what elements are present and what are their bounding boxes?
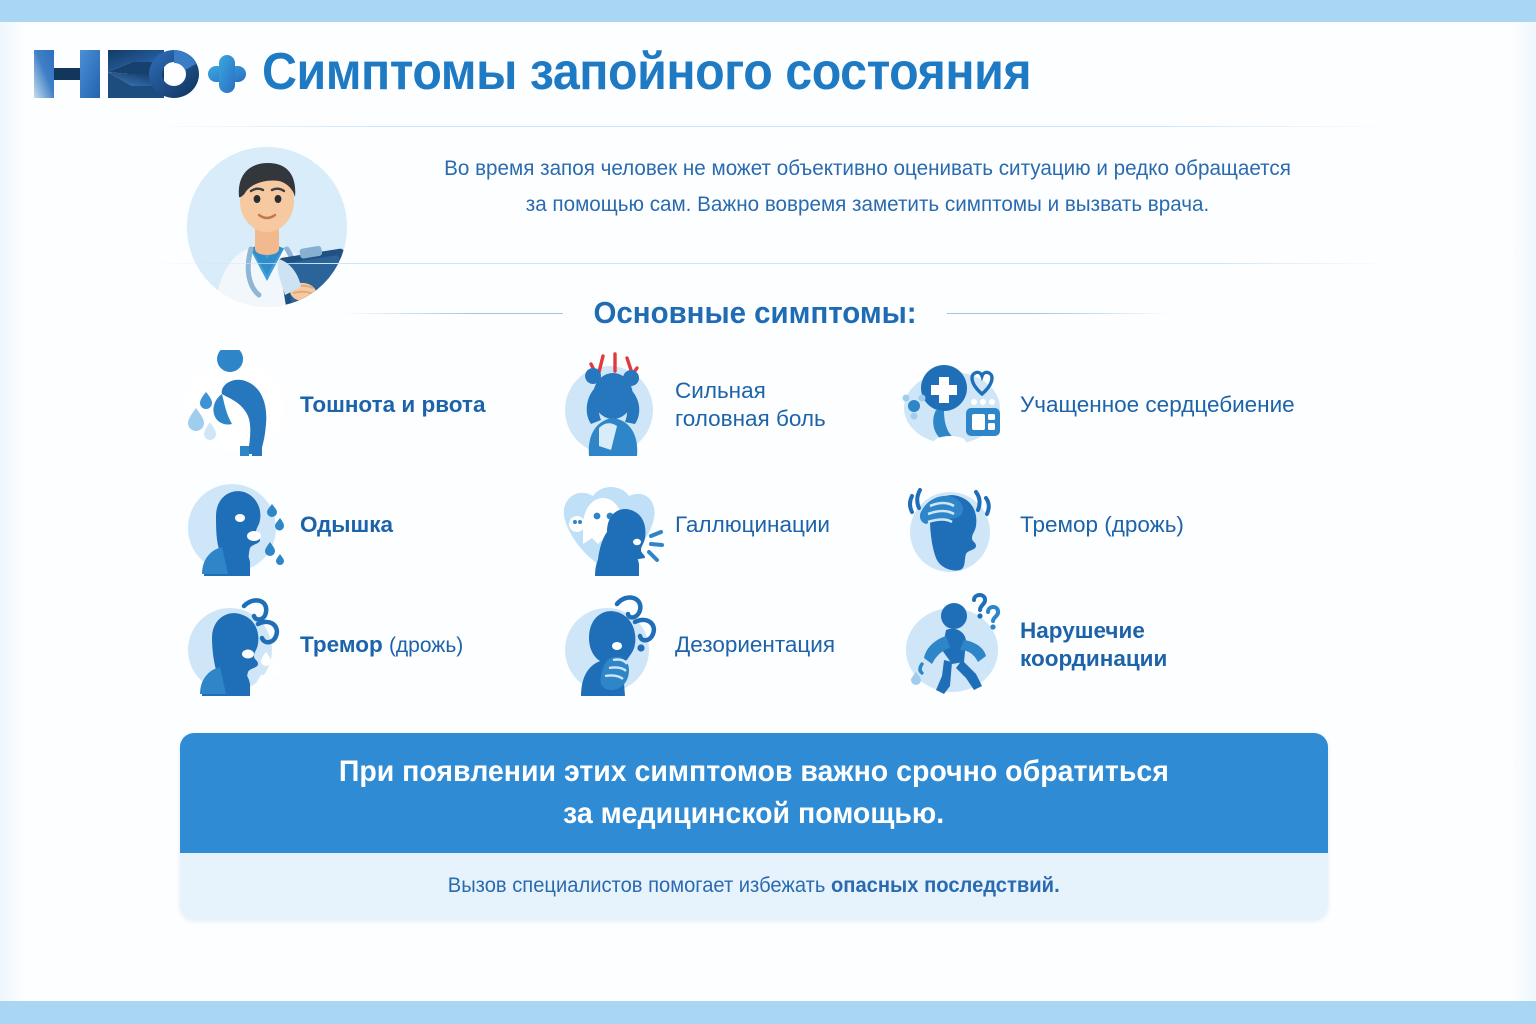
vomiting-person-icon (180, 350, 292, 460)
coordination-loss-walking-icon (900, 590, 1012, 700)
infographic-page: Симптомы запойного состояния (0, 0, 1536, 1024)
intro-paragraph: Во время запоя человек не может объектив… (395, 150, 1341, 222)
symptom-label: Нарушечие координации (1020, 617, 1167, 673)
symptom-label: Тремор (дрожь) (1020, 511, 1184, 539)
symptom-item-disorientation: Дезориентация (555, 585, 945, 705)
symptom-item-tachycardia: Учащенное сердцебиение (900, 345, 1360, 465)
symptom-row: Одышка (180, 465, 1360, 585)
right-edge-tint (1510, 22, 1536, 1001)
tremor-shaking-person-icon (180, 590, 292, 700)
symptom-item-hallucinations: Галлюцинации (555, 465, 945, 585)
symptom-label: Сильная головная боль (675, 377, 826, 433)
heading-line-left (340, 313, 563, 314)
bottom-accent-bar (0, 1001, 1536, 1024)
headache-person-icon (555, 350, 667, 460)
heading-line-right (947, 313, 1170, 314)
top-accent-bar (0, 0, 1536, 22)
symptom-item-coordination: Нарушечие координации (900, 585, 1360, 705)
brand-logo-icon (32, 42, 247, 106)
symptom-item-headache: Сильная головная боль (555, 345, 945, 465)
callout-line-2: за медицинской помощью. (563, 793, 944, 835)
header: Симптомы запойного состояния (0, 22, 1536, 122)
symptom-grid: Тошнота и рвота (180, 345, 1360, 705)
intro-divider (150, 263, 1390, 264)
intro-line-1: Во время запоя человек не может объектив… (395, 150, 1341, 186)
symptom-label: Галлюцинации (675, 511, 830, 539)
callout-footer: Вызов специалистов помогает избежать опа… (180, 853, 1328, 919)
symptom-label-main: Тремор (300, 632, 389, 657)
symptom-label: Одышка (300, 511, 393, 539)
symptom-label-suffix: (дрожь) (389, 634, 463, 657)
symptom-label: Учащенное сердцебиение (1020, 391, 1295, 419)
symptom-label-line-2: головная боль (675, 405, 826, 433)
left-edge-tint (0, 22, 26, 1001)
header-divider (150, 126, 1390, 127)
doctor-with-clipboard-icon (175, 135, 365, 320)
section-title: Основные симптомы: (593, 295, 916, 331)
section-heading: Основные симптомы: (340, 291, 1170, 335)
hallucination-ghost-icon (555, 470, 667, 580)
symptom-label-line-1: Нарушечие (1020, 617, 1167, 645)
symptom-row: Тошнота и рвота (180, 345, 1360, 465)
disorientation-thinking-icon (555, 590, 667, 700)
symptom-label: Тремор (дрожь) (300, 631, 463, 660)
symptom-item-dyspnea: Одышка (180, 465, 550, 585)
page-title: Симптомы запойного состояния (262, 42, 1031, 102)
symptom-label: Тошнота и рвота (300, 391, 485, 419)
symptom-item-nausea: Тошнота и рвота (180, 345, 550, 465)
symptom-label: Дезориентация (675, 631, 835, 659)
shortness-of-breath-icon (180, 470, 292, 580)
callout-box: При появлении этих симптомов важно срочн… (180, 733, 1328, 919)
symptom-label-line-1: Сильная (675, 377, 826, 405)
tremor-hands-head-icon (900, 470, 1012, 580)
symptom-item-tremor-head: Тремор (дрожь) (900, 465, 1360, 585)
callout-footer-text: Вызов специалистов помогает избежать опа… (448, 874, 1060, 898)
callout-footer-plain: Вызов специалистов помогает избежать (448, 874, 831, 897)
intro-line-2: за помощью сам. Важно вовремя заметить с… (395, 186, 1341, 222)
symptom-item-tremor: Тремор (дрожь) (180, 585, 550, 705)
heart-rate-monitor-icon (900, 350, 1012, 460)
symptom-label-line-2: координации (1020, 645, 1167, 673)
callout-primary: При появлении этих симптомов важно срочн… (180, 733, 1328, 853)
callout-footer-emphasis: опасных последствий. (831, 874, 1060, 897)
callout-line-1: При появлении этих симптомов важно срочн… (339, 751, 1169, 793)
symptom-row: Тремор (дрожь) (180, 585, 1360, 705)
intro-section: Во время запоя человек не может объектив… (175, 132, 1365, 272)
